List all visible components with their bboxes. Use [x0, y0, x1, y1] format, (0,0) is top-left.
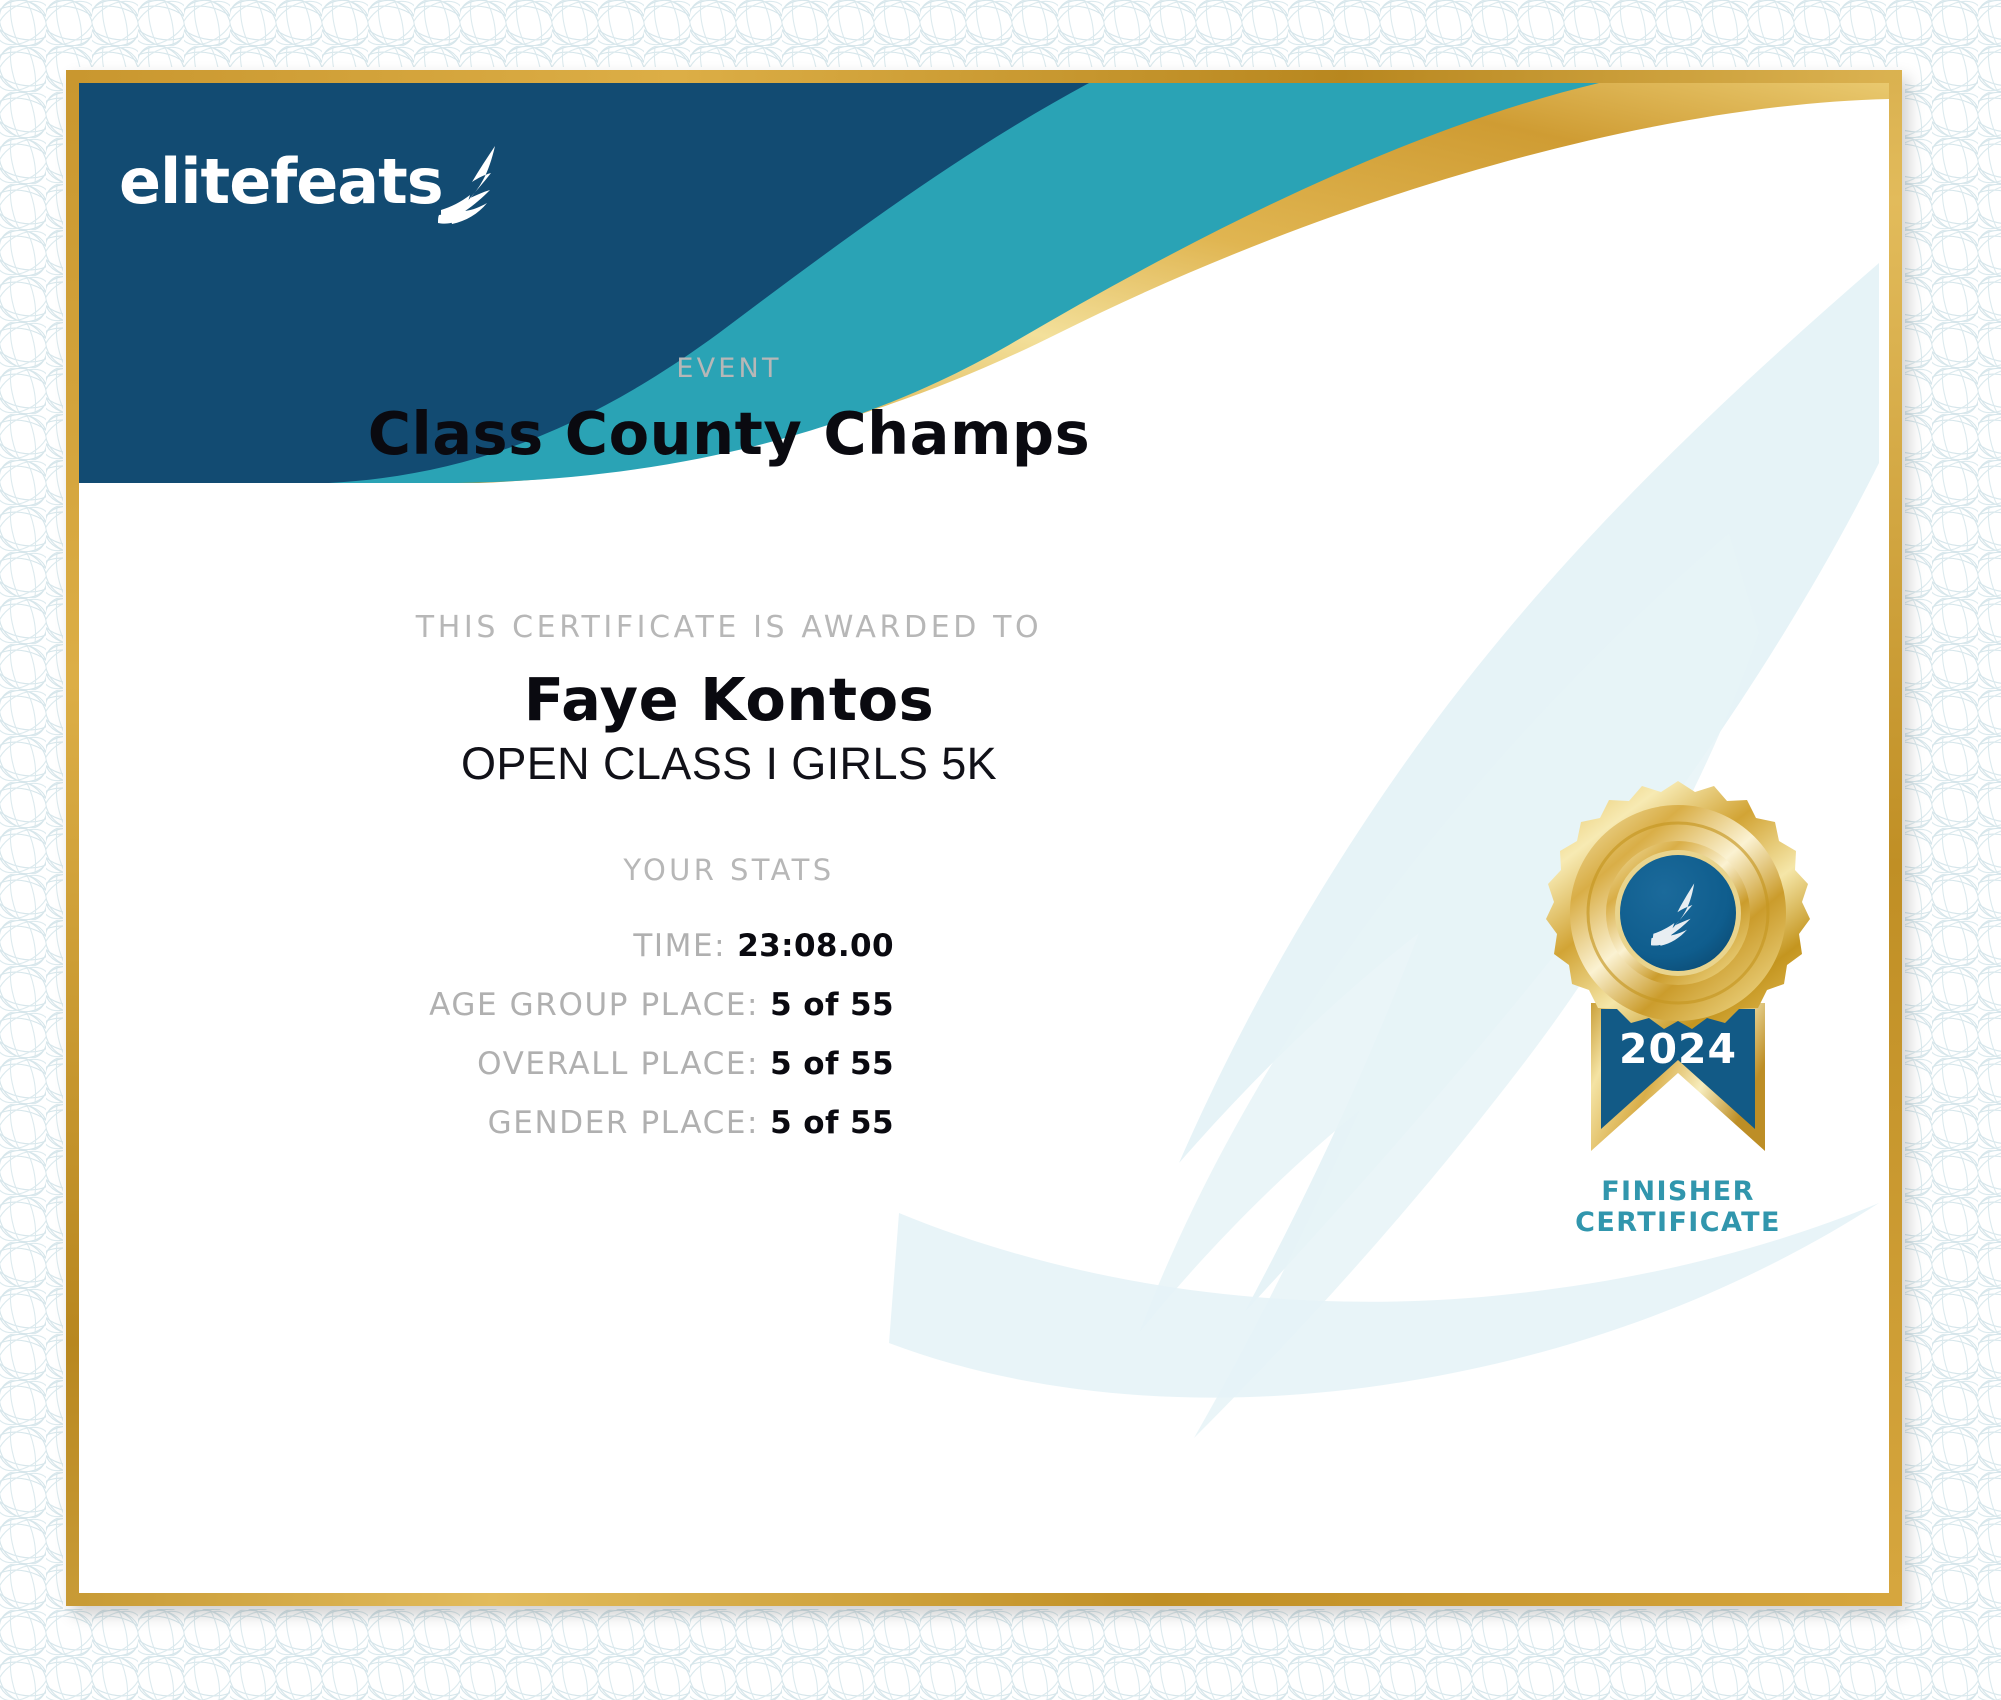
stat-key: AGE GROUP PLACE: [429, 987, 759, 1023]
recipient-name: Faye Kontos [79, 665, 1379, 734]
event-label: EVENT [79, 353, 1379, 384]
medal-year: 2024 [1619, 1025, 1737, 1073]
certificate-body: elitefeats EVENT Class County Champs THI… [79, 83, 1889, 1593]
brand-logo: elitefeats [119, 138, 511, 226]
stat-key: GENDER PLACE: [488, 1105, 759, 1141]
medal-graphic: 2024 [1543, 773, 1813, 1173]
stat-value: 5 of 55 [770, 1105, 894, 1141]
finisher-caption-line1: FINISHER [1523, 1177, 1833, 1208]
stat-value: 5 of 55 [770, 987, 894, 1023]
brand-wordmark: elitefeats [119, 151, 443, 213]
stat-value: 5 of 55 [770, 1046, 894, 1082]
your-stats-label: YOUR STATS [79, 853, 1379, 887]
winged-foot-icon [437, 144, 511, 226]
finisher-certificate-caption: FINISHER CERTIFICATE [1523, 1177, 1833, 1239]
finisher-medal-block: 2024 FINISHER CERTIFICATE [1523, 773, 1833, 1239]
certificate-page: elitefeats EVENT Class County Champs THI… [0, 0, 2001, 1700]
event-name: Class County Champs [79, 399, 1379, 468]
stat-row-gender-place: GENDER PLACE: 5 of 55 [79, 1105, 1379, 1141]
finisher-caption-line2: CERTIFICATE [1523, 1208, 1833, 1239]
certificate-content: EVENT Class County Champs THIS CERTIFICA… [79, 83, 1889, 1593]
stat-value: 23:08.00 [737, 928, 894, 964]
stat-row-overall-place: OVERALL PLACE: 5 of 55 [79, 1046, 1379, 1082]
stat-row-age-group-place: AGE GROUP PLACE: 5 of 55 [79, 987, 1379, 1023]
stat-row-time: TIME: 23:08.00 [79, 928, 1379, 964]
awarded-to-label: THIS CERTIFICATE IS AWARDED TO [79, 610, 1379, 645]
recipient-division: OPEN CLASS I GIRLS 5K [79, 738, 1379, 790]
stat-key: TIME: [633, 928, 726, 964]
stat-key: OVERALL PLACE: [477, 1046, 759, 1082]
stats-list: TIME: 23:08.00 AGE GROUP PLACE: 5 of 55 … [79, 928, 1379, 1164]
medal-medallion [1546, 781, 1810, 1039]
